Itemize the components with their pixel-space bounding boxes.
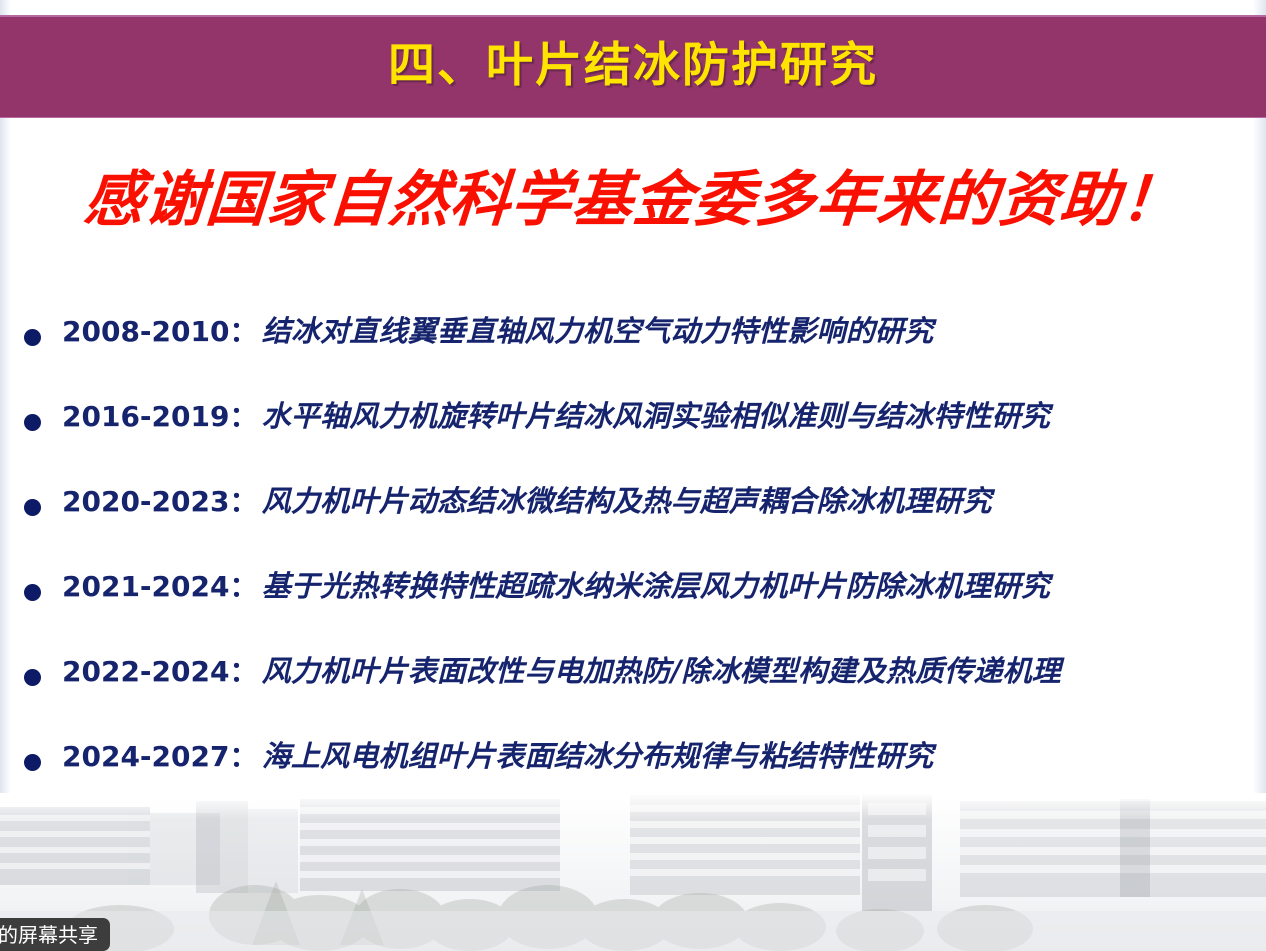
list-item-separator: ： [229,570,261,603]
list-item-years: 2024-2027 [62,740,229,773]
list-item-body: 风力机叶片表面改性与电加热防/除冰模型构建及热质传递机理 [262,654,1061,688]
list-item-separator: ： [229,655,261,688]
list-item: 2008-2010：结冰对直线翼垂直轴风力机空气动力特性影响的研究 [0,314,1266,399]
bullet-dot-icon [24,329,41,346]
bullet-dot-icon [24,414,41,431]
acknowledgement-heading-text: 感谢国家自然科学基金委多年来的资助！ [82,168,1185,233]
list-item-separator: ： [229,400,261,433]
list-item-text: 2020-2023：风力机叶片动态结冰微结构及热与超声耦合除冰机理研究 [62,484,992,519]
list-item: 2021-2024：基于光热转换特性超疏水纳米涂层风力机叶片防除冰机理研究 [0,569,1266,654]
list-item-separator: ： [229,740,261,773]
list-item-body: 基于光热转换特性超疏水纳米涂层风力机叶片防除冰机理研究 [262,569,1050,603]
slide-title: 四、叶片结冰防护研究 [388,42,878,92]
list-item-separator: ： [229,485,261,518]
slide-title-banner: 四、叶片结冰防护研究 [0,15,1266,118]
list-item: 2016-2019：水平轴风力机旋转叶片结冰风洞实验相似准则与结冰特性研究 [0,399,1266,484]
list-item-body: 海上风电机组叶片表面结冰分布规律与粘结特性研究 [262,739,934,773]
list-item-years: 2008-2010 [62,315,229,348]
bullet-dot-icon [24,499,41,516]
bullet-dot-icon [24,669,41,686]
presentation-slide: 四、叶片结冰防护研究 感谢国家自然科学基金委多年来的资助！ 2008-2010：… [0,0,1266,951]
screen-share-indicator: 电的屏幕共享 [0,918,110,951]
list-item: 2022-2024：风力机叶片表面改性与电加热防/除冰模型构建及热质传递机理 [0,654,1266,739]
list-item: 2024-2027：海上风电机组叶片表面结冰分布规律与粘结特性研究 [0,739,1266,824]
list-item-years: 2022-2024 [62,655,229,688]
list-item-body: 结冰对直线翼垂直轴风力机空气动力特性影响的研究 [262,314,934,348]
screen-share-label-text: 电的屏幕共享 [0,925,98,945]
bullet-dot-icon [24,754,41,771]
list-item-years: 2020-2023 [62,485,229,518]
list-item-years: 2016-2019 [62,400,229,433]
list-item-body: 水平轴风力机旋转叶片结冰风洞实验相似准则与结冰特性研究 [262,399,1050,433]
list-item-text: 2016-2019：水平轴风力机旋转叶片结冰风洞实验相似准则与结冰特性研究 [62,399,1050,434]
list-item-body: 风力机叶片动态结冰微结构及热与超声耦合除冰机理研究 [262,484,992,518]
acknowledgement-heading: 感谢国家自然科学基金委多年来的资助！ [0,168,1266,233]
list-item-separator: ： [229,315,261,348]
list-item-text: 2021-2024：基于光热转换特性超疏水纳米涂层风力机叶片防除冰机理研究 [62,569,1050,604]
list-item-text: 2022-2024：风力机叶片表面改性与电加热防/除冰模型构建及热质传递机理 [62,654,1061,689]
bullet-dot-icon [24,584,41,601]
list-item-text: 2008-2010：结冰对直线翼垂直轴风力机空气动力特性影响的研究 [62,314,933,349]
list-item-years: 2021-2024 [62,570,229,603]
list-item-text: 2024-2027：海上风电机组叶片表面结冰分布规律与粘结特性研究 [62,739,933,774]
list-item: 2020-2023：风力机叶片动态结冰微结构及热与超声耦合除冰机理研究 [0,484,1266,569]
grant-list: 2008-2010：结冰对直线翼垂直轴风力机空气动力特性影响的研究 2016-2… [0,314,1266,824]
